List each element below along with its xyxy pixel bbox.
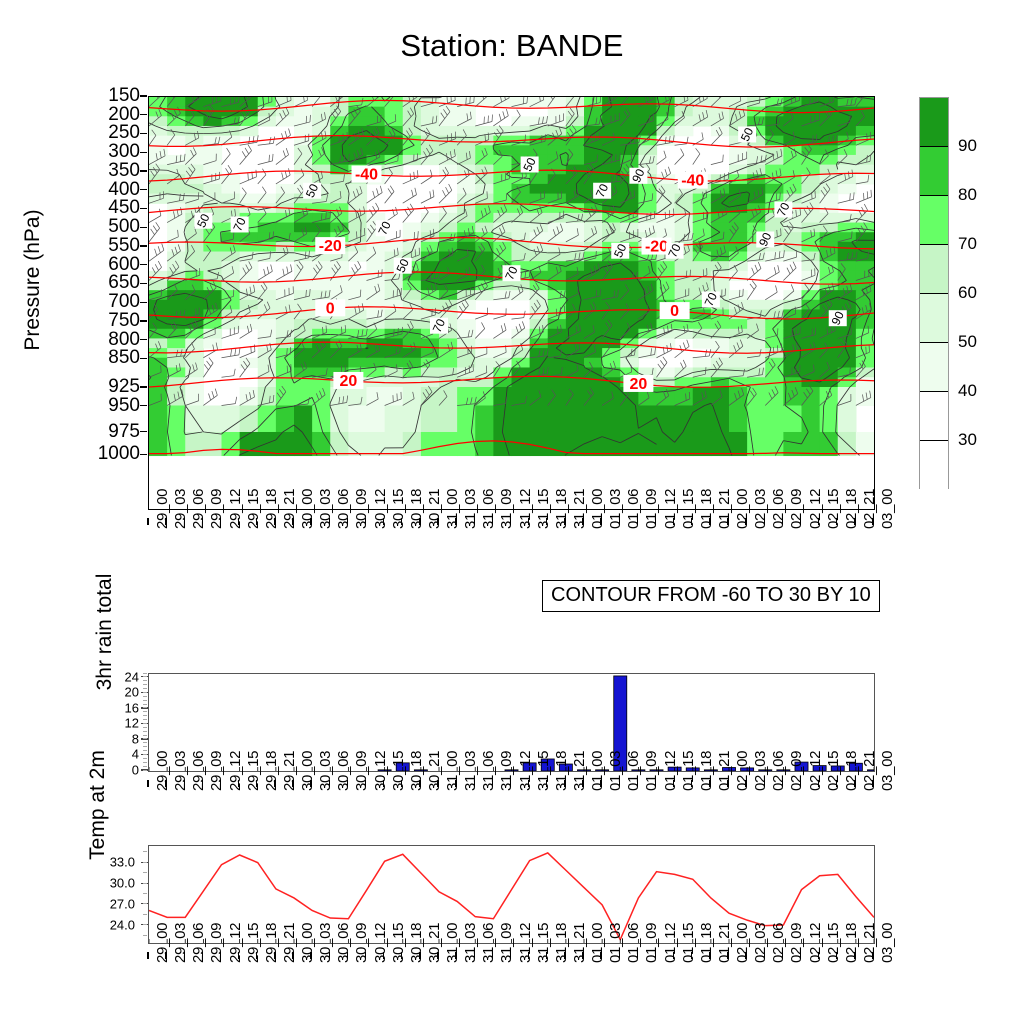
x-tick-mark [238, 952, 239, 959]
temp-y-tick-labels: 24.027.030.033.0 [95, 845, 148, 942]
x-axis-time-label: 02_21 [861, 751, 878, 791]
x-axis-time-label: 30_15 [390, 751, 407, 791]
x-tick-mark [365, 952, 366, 959]
x-axis-time-label: 01_00 [589, 489, 606, 529]
temp-minor-tick [143, 872, 147, 873]
x-tick-mark [745, 780, 746, 787]
rain-minor-tick [143, 766, 147, 767]
x-axis-time-label: 02_03 [752, 489, 769, 529]
x-tick-mark [564, 952, 565, 959]
x-tick-mark [510, 952, 511, 959]
temp-minor-tick [143, 851, 147, 852]
x-tick-mark [165, 518, 166, 525]
x-axis-time-label: 02_00 [734, 923, 751, 963]
x-tick-mark [238, 518, 239, 525]
sounding-contour-plot[interactable]: -40-40-20-200020205050505050507070707070… [148, 96, 875, 510]
x-tick-mark [637, 780, 638, 787]
x-axis-time-label: 01_15 [680, 489, 697, 529]
x-axis-time-label: 29_21 [281, 923, 298, 963]
x-axis-time-label: 31_06 [480, 489, 497, 529]
x-tick-mark [492, 952, 493, 959]
rain-minor-tick [143, 680, 147, 681]
x-tick-mark [184, 780, 185, 787]
temp-tick-label: 33.0 [91, 855, 135, 870]
x-axis-time-label: 29_12 [227, 751, 244, 791]
x-axis-time-label: 01_21 [716, 751, 733, 791]
x-axis-time-label: 02_18 [843, 751, 860, 791]
x-axis-time-label: 29_06 [190, 751, 207, 791]
pressure-tick-label: 975 [80, 421, 140, 443]
rain-minor-tick [143, 688, 147, 689]
pressure-tick-mark [140, 95, 147, 96]
x-axis-time-label: 01_18 [698, 923, 715, 963]
rain-minor-tick [143, 673, 147, 674]
x-tick-mark [637, 952, 638, 959]
rain-tick-label: 24 [95, 669, 139, 684]
x-tick-mark [582, 780, 583, 787]
x-axis-time-label: 02_03 [752, 751, 769, 791]
temp-minor-tick [143, 862, 147, 863]
x-axis-time-label: 31_09 [498, 751, 515, 791]
x-axis-time-label: 02_21 [861, 489, 878, 529]
x-tick-mark [383, 952, 384, 959]
x-tick-mark [147, 780, 148, 787]
x-tick-mark [510, 518, 511, 525]
x-tick-mark [582, 518, 583, 525]
x-tick-mark [836, 952, 837, 959]
x-axis-time-label: 29_09 [208, 489, 225, 529]
pressure-tick-mark [140, 152, 147, 153]
x-axis-time-label: 01_21 [716, 489, 733, 529]
pressure-tick-mark [140, 302, 147, 303]
x-tick-mark [564, 518, 565, 525]
x-tick-mark [709, 518, 710, 525]
x-axis-time-label: 30_18 [408, 751, 425, 791]
x-tick-mark [492, 518, 493, 525]
x-tick-mark [419, 780, 420, 787]
x-axis-time-label: 31_12 [517, 751, 534, 791]
x-tick-mark [818, 952, 819, 959]
x-axis-time-label: 31_12 [517, 923, 534, 963]
x-tick-mark [401, 518, 402, 525]
x-axis-time-label: 03_00 [879, 751, 896, 791]
x-tick-mark [292, 780, 293, 787]
x-tick-mark [419, 952, 420, 959]
rain-minor-tick [143, 711, 147, 712]
x-tick-mark [401, 780, 402, 787]
x-axis-time-label: 31_06 [480, 923, 497, 963]
x-tick-mark [782, 952, 783, 959]
main-y-tick-labels: 1502002503003504004505005506006507007508… [74, 96, 140, 508]
x-tick-mark [872, 780, 873, 787]
rain-minor-tick [143, 750, 147, 751]
x-tick-mark [292, 518, 293, 525]
x-tick-mark [474, 518, 475, 525]
x-tick-mark [872, 952, 873, 959]
rain-minor-tick [143, 719, 147, 720]
x-tick-mark [437, 952, 438, 959]
colorbar-band [920, 98, 948, 147]
temp-minor-tick [143, 924, 147, 925]
x-axis-time-label: 02_12 [807, 923, 824, 963]
x-axis-time-label: 31_18 [553, 489, 570, 529]
temp-minor-tick [143, 903, 147, 904]
temp-minor-tick [143, 935, 147, 936]
x-axis-time-label: 02_00 [734, 751, 751, 791]
svg-text:20: 20 [629, 376, 647, 393]
x-tick-mark [546, 952, 547, 959]
x-tick-mark [165, 780, 166, 787]
svg-text:20: 20 [339, 373, 357, 390]
x-tick-mark [220, 780, 221, 787]
x-tick-mark [782, 780, 783, 787]
x-tick-mark [564, 780, 565, 787]
x-tick-mark [347, 518, 348, 525]
pressure-tick-mark [140, 245, 147, 246]
x-axis-time-label: 01_12 [662, 923, 679, 963]
pressure-tick-mark [140, 339, 147, 340]
x-axis-time-label: 31_00 [444, 489, 461, 529]
svg-text:-20: -20 [319, 238, 342, 255]
x-tick-mark [347, 952, 348, 959]
x-axis-time-label: 31_03 [462, 489, 479, 529]
x-axis-time-label: 29_18 [263, 751, 280, 791]
x-tick-mark [691, 952, 692, 959]
pressure-tick-mark [140, 454, 147, 455]
x-axis-time-label: 31_03 [462, 751, 479, 791]
temp-tick-label: 30.0 [91, 876, 135, 891]
x-tick-mark [147, 952, 148, 959]
colorbar-band [920, 147, 948, 196]
x-axis-time-label: 30_18 [408, 489, 425, 529]
x-axis-time-label: 30_12 [372, 751, 389, 791]
pressure-tick-mark [140, 405, 147, 406]
x-axis-time-label: 31_15 [535, 751, 552, 791]
x-axis-time-label: 29_00 [154, 923, 171, 963]
rain-minor-tick [143, 727, 147, 728]
x-axis-time-label: 02_21 [861, 923, 878, 963]
x-tick-mark [365, 518, 366, 525]
x-tick-mark [764, 952, 765, 959]
x-axis-time-label: 01_00 [589, 923, 606, 963]
x-tick-mark [510, 780, 511, 787]
x-tick-mark [691, 780, 692, 787]
rain-minor-tick [143, 715, 147, 716]
x-axis-time-label: 01_09 [643, 923, 660, 963]
x-axis-time-label: 01_15 [680, 751, 697, 791]
x-axis-time-label: 01_03 [607, 489, 624, 529]
rain-minor-tick [143, 704, 147, 705]
x-tick-mark [836, 780, 837, 787]
x-tick-mark [437, 518, 438, 525]
x-axis-time-label: 02_15 [825, 751, 842, 791]
rain-minor-tick [143, 758, 147, 759]
x-tick-mark [165, 952, 166, 959]
x-tick-mark [854, 952, 855, 959]
x-axis-time-label: 29_03 [172, 923, 189, 963]
x-tick-mark [836, 518, 837, 525]
rain-minor-tick [143, 684, 147, 685]
x-axis-time-label: 02_09 [788, 751, 805, 791]
colorbar-tick-label: 70 [958, 234, 977, 254]
rain-minor-tick [143, 754, 147, 755]
rain-minor-tick [143, 735, 147, 736]
colorbar-band [920, 294, 948, 343]
x-axis-time-label: 02_12 [807, 489, 824, 529]
pressure-tick-label: 850 [80, 347, 140, 369]
x-tick-mark [292, 952, 293, 959]
x-tick-mark [800, 952, 801, 959]
x-tick-mark [202, 952, 203, 959]
rain-minor-tick [143, 770, 147, 771]
x-axis-time-label: 29_18 [263, 923, 280, 963]
temp-minor-tick [143, 893, 147, 894]
x-tick-mark [600, 952, 601, 959]
x-axis-time-label: 31_15 [535, 489, 552, 529]
x-axis-time-label: 29_06 [190, 923, 207, 963]
x-axis-time-label: 30_15 [390, 923, 407, 963]
pressure-tick-mark [140, 189, 147, 190]
x-tick-mark [546, 780, 547, 787]
x-axis-time-label: 30_00 [299, 923, 316, 963]
x-tick-mark [800, 780, 801, 787]
x-tick-mark [383, 780, 384, 787]
x-tick-mark [274, 952, 275, 959]
colorbar-tick-label: 90 [958, 136, 977, 156]
x-axis-time-label: 03_00 [879, 489, 896, 529]
x-axis-time-label: 30_03 [317, 489, 334, 529]
x-axis-time-label: 31_21 [571, 489, 588, 529]
x-tick-mark [655, 952, 656, 959]
x-tick-mark [782, 518, 783, 525]
x-axis-time-label: 29_15 [245, 923, 262, 963]
x-tick-mark [582, 952, 583, 959]
x-axis-time-label: 31_15 [535, 923, 552, 963]
x-tick-mark [854, 518, 855, 525]
x-axis-time-label: 30_09 [353, 489, 370, 529]
pressure-tick-mark [140, 208, 147, 209]
x-axis-time-label: 29_00 [154, 489, 171, 529]
x-axis-time-label: 01_03 [607, 923, 624, 963]
x-tick-mark [455, 780, 456, 787]
x-tick-mark [383, 518, 384, 525]
x-axis-time-label: 31_09 [498, 489, 515, 529]
x-axis-time-label: 30_18 [408, 923, 425, 963]
x-axis-time-label: 01_06 [625, 489, 642, 529]
rain-minor-tick [143, 692, 147, 693]
x-axis-time-label: 30_09 [353, 923, 370, 963]
x-axis-time-label: 01_00 [589, 751, 606, 791]
pressure-tick-mark [140, 227, 147, 228]
x-tick-mark [256, 952, 257, 959]
contour-canvas: -40-40-20-200020205050505050507070707070… [149, 97, 874, 509]
x-tick-mark [764, 518, 765, 525]
colorbar-tick-label: 60 [958, 283, 977, 303]
x-tick-mark [745, 518, 746, 525]
x-tick-mark [184, 952, 185, 959]
colorbar-band [920, 343, 948, 392]
x-axis-time-label: 31_18 [553, 751, 570, 791]
x-tick-mark [238, 780, 239, 787]
x-axis-time-label: 31_21 [571, 751, 588, 791]
x-tick-mark [619, 780, 620, 787]
x-tick-mark [347, 780, 348, 787]
x-axis-time-label: 01_09 [643, 751, 660, 791]
x-axis-time-label: 01_21 [716, 923, 733, 963]
x-tick-mark [310, 518, 311, 525]
x-axis-time-label: 01_09 [643, 489, 660, 529]
x-axis-time-label: 30_03 [317, 751, 334, 791]
x-tick-mark [673, 952, 674, 959]
x-tick-mark [673, 518, 674, 525]
x-axis-time-label: 01_06 [625, 751, 642, 791]
x-tick-mark [600, 780, 601, 787]
pressure-tick-mark [140, 386, 147, 387]
x-tick-mark [365, 780, 366, 787]
pressure-tick-mark [140, 170, 147, 171]
x-tick-mark [274, 518, 275, 525]
humidity-colorbar[interactable] [919, 97, 949, 489]
x-tick-mark [673, 780, 674, 787]
x-tick-mark [256, 518, 257, 525]
x-axis-time-label: 31_00 [444, 751, 461, 791]
x-tick-mark [202, 518, 203, 525]
x-tick-mark [727, 780, 728, 787]
x-axis-time-label: 02_09 [788, 489, 805, 529]
rain-minor-tick [143, 723, 147, 724]
x-tick-mark [329, 952, 330, 959]
x-axis-time-label: 29_09 [208, 923, 225, 963]
x-axis-time-label: 01_12 [662, 751, 679, 791]
x-axis-time-label: 30_21 [426, 489, 443, 529]
x-axis-time-label: 29_00 [154, 751, 171, 791]
rain-minor-tick [143, 696, 147, 697]
x-axis-time-label: 02_06 [770, 751, 787, 791]
x-tick-mark [600, 518, 601, 525]
x-axis-time-label: 30_21 [426, 923, 443, 963]
rain-minor-tick [143, 676, 147, 677]
x-tick-mark [764, 780, 765, 787]
x-tick-mark [637, 518, 638, 525]
pressure-tick-label: 950 [80, 395, 140, 417]
x-axis-time-label: 01_03 [607, 751, 624, 791]
x-axis-time-label: 01_18 [698, 751, 715, 791]
x-tick-mark [401, 952, 402, 959]
x-axis-time-label: 30_21 [426, 751, 443, 791]
colorbar-band [920, 392, 948, 441]
x-axis-time-label: 29_21 [281, 751, 298, 791]
svg-text:0: 0 [326, 300, 335, 317]
x-axis-time-label: 29_21 [281, 489, 298, 529]
x-tick-mark [691, 518, 692, 525]
main-y-axis-label: Pressure (hPa) [21, 110, 45, 450]
x-axis-time-label: 30_06 [335, 751, 352, 791]
x-tick-mark [528, 952, 529, 959]
x-tick-mark [220, 518, 221, 525]
x-axis-time-label: 30_09 [353, 751, 370, 791]
x-axis-time-label: 30_00 [299, 751, 316, 791]
x-axis-time-label: 29_09 [208, 751, 225, 791]
x-axis-time-label: 02_09 [788, 923, 805, 963]
x-tick-mark [528, 780, 529, 787]
rain-minor-tick [143, 700, 147, 701]
x-tick-mark [184, 518, 185, 525]
temp-minor-tick [143, 883, 147, 884]
x-axis-time-label: 29_15 [245, 489, 262, 529]
x-axis-time-label: 30_12 [372, 923, 389, 963]
temp-tick-label: 24.0 [91, 917, 135, 932]
colorbar-tick-label: 80 [958, 185, 977, 205]
x-tick-mark [709, 952, 710, 959]
x-tick-mark [310, 780, 311, 787]
x-axis-time-label: 01_12 [662, 489, 679, 529]
page-title: Station: BANDE [0, 28, 1024, 64]
x-axis-time-label: 31_12 [517, 489, 534, 529]
temp-x-axis-time-labels: 29_0029_0329_0629_0929_1229_1529_1829_21… [148, 952, 873, 1032]
x-tick-mark [546, 518, 547, 525]
x-axis-time-label: 29_18 [263, 489, 280, 529]
x-axis-time-label: 02_18 [843, 923, 860, 963]
x-axis-time-label: 02_06 [770, 489, 787, 529]
x-tick-mark [202, 780, 203, 787]
x-axis-time-label: 31_06 [480, 751, 497, 791]
x-axis-time-label: 31_09 [498, 923, 515, 963]
svg-text:-40: -40 [355, 167, 378, 184]
x-axis-time-label: 29_06 [190, 489, 207, 529]
colorbar-band [920, 196, 948, 245]
x-tick-mark [727, 518, 728, 525]
rain-minor-tick [143, 738, 147, 739]
rain-minor-tick [143, 742, 147, 743]
x-tick-mark [274, 780, 275, 787]
rain-minor-tick [143, 746, 147, 747]
pressure-tick-mark [140, 358, 147, 359]
x-tick-mark [872, 518, 873, 525]
x-tick-mark [147, 518, 148, 525]
svg-text:-20: -20 [645, 239, 668, 256]
x-tick-mark [256, 780, 257, 787]
rain-minor-tick [143, 762, 147, 763]
x-axis-time-label: 30_06 [335, 923, 352, 963]
colorbar-tick-label: 40 [958, 381, 977, 401]
x-axis-time-label: 02_15 [825, 923, 842, 963]
x-axis-time-label: 29_15 [245, 751, 262, 791]
pressure-tick-label: 1000 [80, 443, 140, 465]
x-axis-time-label: 01_15 [680, 923, 697, 963]
x-axis-time-label: 30_15 [390, 489, 407, 529]
x-axis-time-label: 03_00 [879, 923, 896, 963]
x-tick-mark [818, 518, 819, 525]
temp-tick-label: 27.0 [91, 896, 135, 911]
x-axis-time-label: 29_03 [172, 489, 189, 529]
svg-text:-40: -40 [681, 173, 704, 190]
x-axis-time-label: 31_00 [444, 923, 461, 963]
x-axis-time-label: 29_03 [172, 751, 189, 791]
x-axis-time-label: 02_18 [843, 489, 860, 529]
x-axis-time-label: 01_18 [698, 489, 715, 529]
x-tick-mark [709, 780, 710, 787]
x-axis-time-label: 02_00 [734, 489, 751, 529]
x-axis-time-label: 30_12 [372, 489, 389, 529]
x-tick-mark [854, 780, 855, 787]
x-axis-time-label: 02_12 [807, 751, 824, 791]
x-tick-mark [474, 780, 475, 787]
svg-text:0: 0 [670, 303, 679, 320]
x-tick-mark [619, 518, 620, 525]
pressure-tick-mark [140, 264, 147, 265]
x-tick-mark [655, 780, 656, 787]
pressure-tick-mark [140, 283, 147, 284]
